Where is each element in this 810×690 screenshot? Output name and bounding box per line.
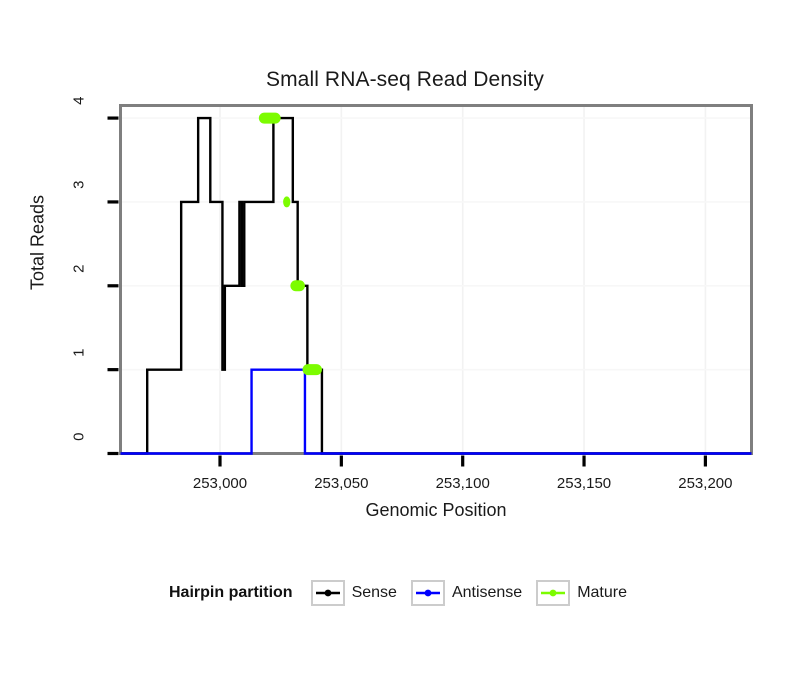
x-tick-label: 253,200 [650, 475, 760, 492]
legend-entry-antisense[interactable]: Antisense [411, 580, 522, 606]
legend-entry-mature[interactable]: Mature [536, 580, 627, 606]
legend-title: Hairpin partition [169, 584, 293, 602]
y-tick-label: 2 [70, 264, 87, 304]
y-tick-label: 1 [70, 348, 87, 388]
y-tick-label: 4 [70, 97, 87, 137]
mature-marker [259, 113, 281, 124]
series-line-antisense [121, 370, 752, 454]
legend-label: Sense [352, 584, 397, 602]
x-tick-label: 253,150 [529, 475, 639, 492]
gridlines [121, 106, 752, 454]
x-tick-label: 253,000 [165, 475, 275, 492]
chart-legend: Hairpin partition SenseAntisenseMature [0, 580, 810, 606]
chart-container: Small RNA-seq Read Density Total Reads G… [0, 0, 810, 690]
legend-entry-sense[interactable]: Sense [311, 580, 397, 606]
mature-marker-layer [259, 113, 322, 376]
legend-key-icon [311, 580, 345, 606]
mature-marker [290, 280, 305, 291]
legend-key-icon [411, 580, 445, 606]
legend-entries: SenseAntisenseMature [311, 580, 641, 606]
legend-key-icon [536, 580, 570, 606]
mature-marker [283, 196, 290, 207]
mature-marker [303, 364, 322, 375]
y-tick-label: 0 [70, 432, 87, 472]
legend-label: Antisense [452, 584, 522, 602]
x-tick-label: 253,100 [408, 475, 518, 492]
x-tick-label: 253,050 [286, 475, 396, 492]
legend-label: Mature [577, 584, 627, 602]
y-tick-label: 3 [70, 180, 87, 220]
plot-frame [121, 106, 752, 454]
